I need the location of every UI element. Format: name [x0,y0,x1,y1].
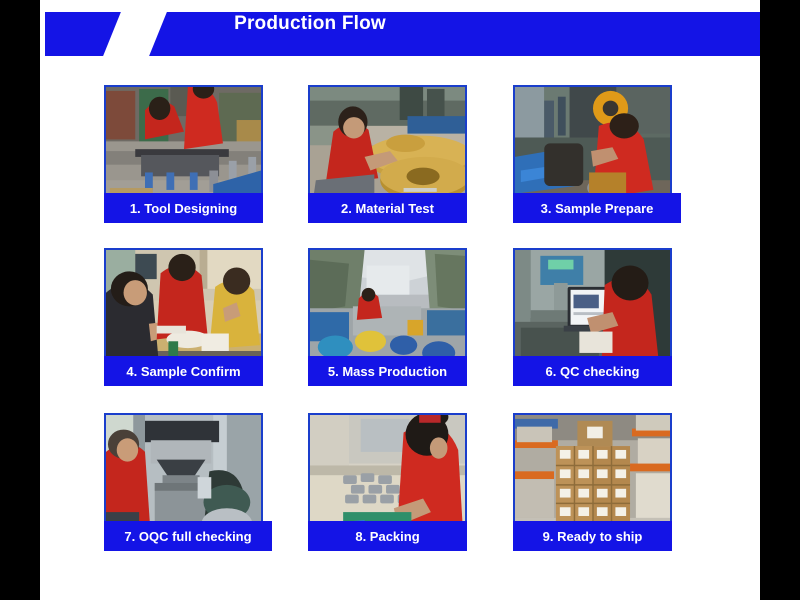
step-label-3: 3. Sample Prepare [513,193,681,223]
step-card-5[interactable]: 5. Mass Production [308,248,467,386]
letterbox-right [760,0,800,600]
letterbox-left [0,0,40,600]
page-title: Production Flow [140,12,480,36]
production-flow-grid: 1. Tool Designing [104,85,669,565]
step-label-5: 5. Mass Production [308,356,467,386]
step-label-7: 7. OQC full checking [104,521,272,551]
step-card-3[interactable]: 3. Sample Prepare [513,85,672,223]
step-card-6[interactable]: 6. QC checking [513,248,672,386]
step-label-9: 9. Ready to ship [513,521,672,551]
step-label-1: 1. Tool Designing [104,193,263,223]
slide-canvas: Production Flow [0,0,800,600]
step-card-9[interactable]: 9. Ready to ship [513,413,672,551]
step-label-8: 8. Packing [308,521,467,551]
step-card-4[interactable]: 4. Sample Confirm [104,248,263,386]
step-label-6: 6. QC checking [513,356,672,386]
step-card-1[interactable]: 1. Tool Designing [104,85,263,223]
step-card-8[interactable]: 8. Packing [308,413,467,551]
step-card-7[interactable]: 7. OQC full checking [104,413,263,551]
step-label-4: 4. Sample Confirm [104,356,263,386]
step-card-2[interactable]: 2. Material Test [308,85,467,223]
step-label-2: 2. Material Test [308,193,467,223]
